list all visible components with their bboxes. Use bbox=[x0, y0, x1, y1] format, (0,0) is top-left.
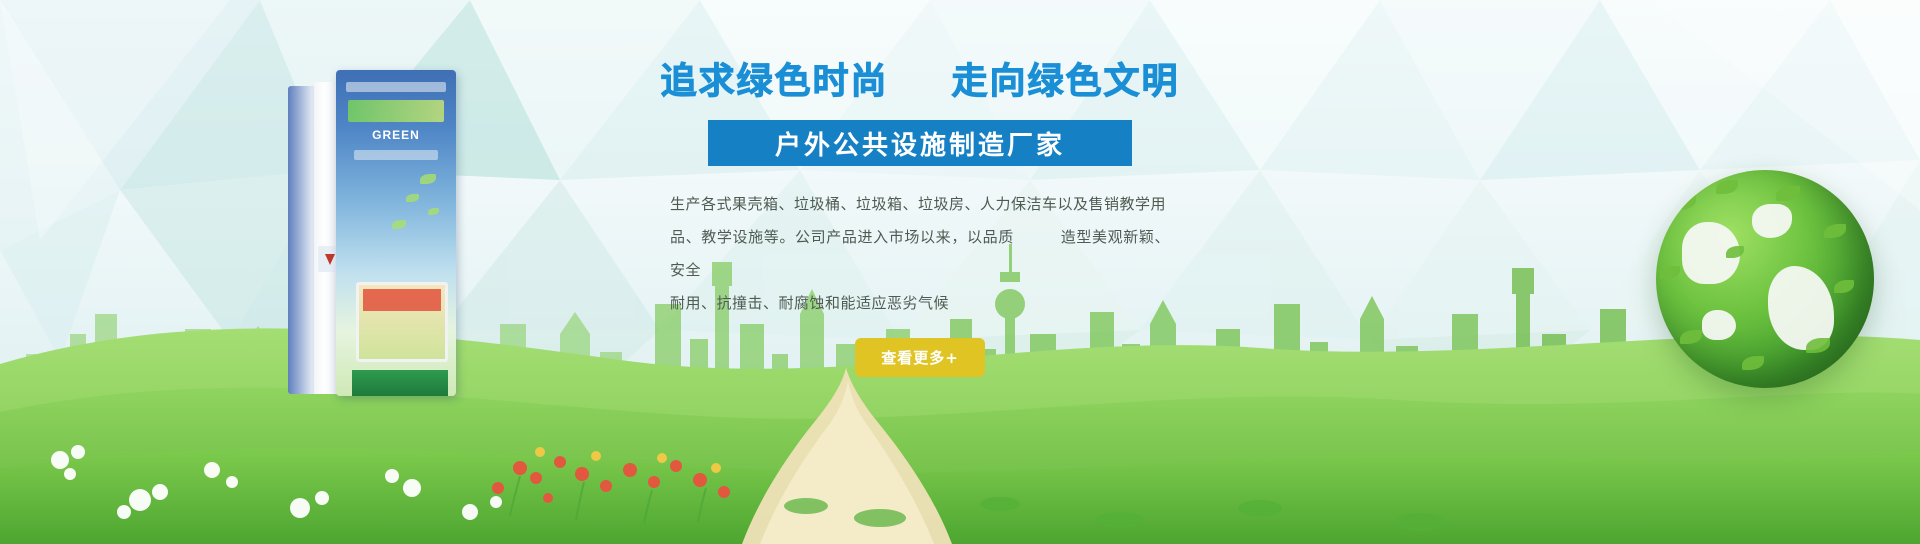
subtitle-bar: 户外公共设施制造厂家 bbox=[708, 120, 1132, 166]
kiosk-front-panel: GREEN bbox=[336, 70, 456, 396]
banner-content: 追求绿色时尚 走向绿色文明 户外公共设施制造厂家 生产各式果壳箱、垃圾桶、垃圾箱… bbox=[640, 60, 1200, 377]
leaf-icon bbox=[1726, 246, 1744, 258]
subtitle-bar-label: 户外公共设施制造厂家 bbox=[775, 125, 1065, 162]
green-globe-graphic bbox=[1656, 170, 1874, 388]
leaf-icon bbox=[1834, 280, 1854, 293]
continent-shape bbox=[1752, 204, 1792, 238]
leaf-icon bbox=[1776, 186, 1800, 201]
leaf-icon bbox=[1660, 266, 1680, 279]
kiosk-screen-banner bbox=[363, 289, 441, 311]
leaf-icon bbox=[392, 220, 406, 229]
leaf-icon bbox=[1680, 330, 1702, 344]
headline-part-2: 走向绿色文明 bbox=[952, 61, 1180, 102]
leaf-icon bbox=[1716, 180, 1738, 194]
leaf-icon bbox=[406, 194, 419, 202]
leaf-icon bbox=[1806, 338, 1830, 353]
leaf-icon bbox=[428, 208, 439, 215]
cta-wrapper: 查看更多+ bbox=[640, 338, 1200, 377]
kiosk-arrow-icon bbox=[325, 254, 335, 265]
kiosk-product-image: GREEN bbox=[288, 68, 464, 398]
leaf-icon bbox=[1824, 224, 1846, 238]
kiosk-subtext-band bbox=[354, 150, 438, 160]
kiosk-display-screen bbox=[356, 282, 448, 362]
headline-part-1: 追求绿色时尚 bbox=[660, 61, 888, 102]
kiosk-tagline-band bbox=[348, 100, 444, 122]
description-paragraph: 生产各式果壳箱、垃圾桶、垃圾箱、垃圾房、人力保洁车以及售销教学用 品、教学设施等… bbox=[670, 188, 1170, 320]
hero-banner: GREEN 追求绿色时尚 走向 bbox=[0, 0, 1920, 544]
kiosk-base bbox=[352, 370, 448, 396]
view-more-button[interactable]: 查看更多+ bbox=[855, 338, 985, 377]
page-title: 追求绿色时尚 走向绿色文明 bbox=[640, 60, 1200, 104]
leaf-icon bbox=[420, 174, 436, 184]
kiosk-brand-label: GREEN bbox=[370, 128, 422, 144]
paragraph-line-3: 耐用、抗撞击、耐腐蚀和能适应恶劣气候 bbox=[670, 287, 1170, 320]
continent-shape bbox=[1702, 310, 1736, 340]
kiosk-header-strip bbox=[346, 82, 446, 92]
paragraph-line-1: 生产各式果壳箱、垃圾桶、垃圾箱、垃圾房、人力保洁车以及售销教学用 bbox=[670, 188, 1170, 221]
leaf-icon bbox=[1742, 356, 1764, 370]
paragraph-line-2: 品、教学设施等。公司产品进入市场以来，以品质 造型美观新颖、安全 bbox=[670, 221, 1170, 287]
leaf-icon bbox=[1670, 194, 1696, 210]
